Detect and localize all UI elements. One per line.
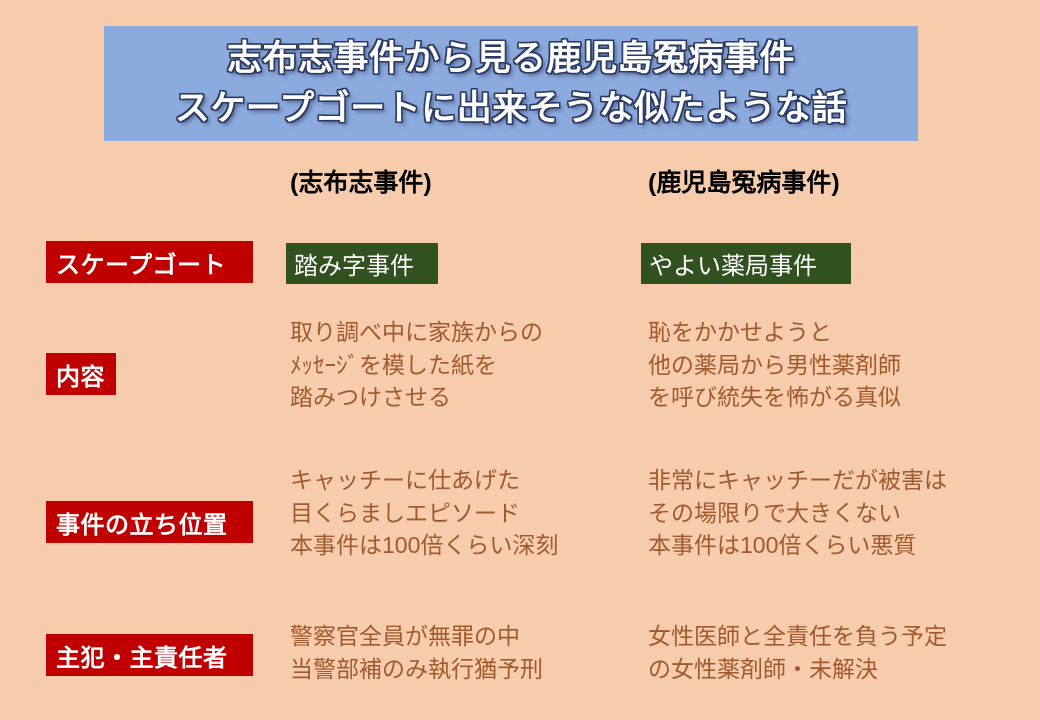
- scapegoat-box-kagoshima: やよい薬局事件: [641, 243, 851, 284]
- row-label-case-position: 事件の立ち位置: [46, 501, 253, 543]
- content-cell-shibushi: 取り調べ中に家族からの ﾒｯｾｰｼﾞを模した紙を 踏みつけさせる: [290, 316, 543, 414]
- title-banner: 志布志事件から見る鹿児島冤病事件 スケープゴートに出来そうな似たような話: [104, 26, 918, 141]
- title-line-1: 志布志事件から見る鹿児島冤病事件: [227, 34, 795, 84]
- main-culprit-cell-kagoshima: 女性医師と全責任を負う予定 の女性薬剤師・未解決: [648, 620, 947, 685]
- case-position-cell-shibushi: キャッチーに仕あげた 目くらましエピソード 本事件は100倍くらい深刻: [290, 464, 558, 562]
- case-position-cell-kagoshima: 非常にキャッチーだが被害は その場限りで大きくない 本事件は100倍くらい悪質: [648, 464, 947, 562]
- row-label-content: 内容: [46, 353, 116, 395]
- scapegoat-box-shibushi: 踏み字事件: [286, 243, 438, 284]
- main-culprit-cell-shibushi: 警察官全員が無罪の中 当警部補のみ執行猶予刑: [290, 620, 543, 685]
- content-cell-kagoshima: 恥をかかせようと 他の薬局から男性薬剤師 を呼び統失を怖がる真似: [648, 316, 901, 414]
- column-header-shibushi: (志布志事件): [290, 171, 432, 196]
- title-line-2: スケープゴートに出来そうな似たような話: [175, 84, 847, 134]
- row-label-scapegoat: スケープゴート: [46, 241, 253, 283]
- row-label-main-culprit: 主犯・主責任者: [46, 634, 253, 676]
- column-header-kagoshima: (鹿児島冤病事件): [648, 171, 840, 196]
